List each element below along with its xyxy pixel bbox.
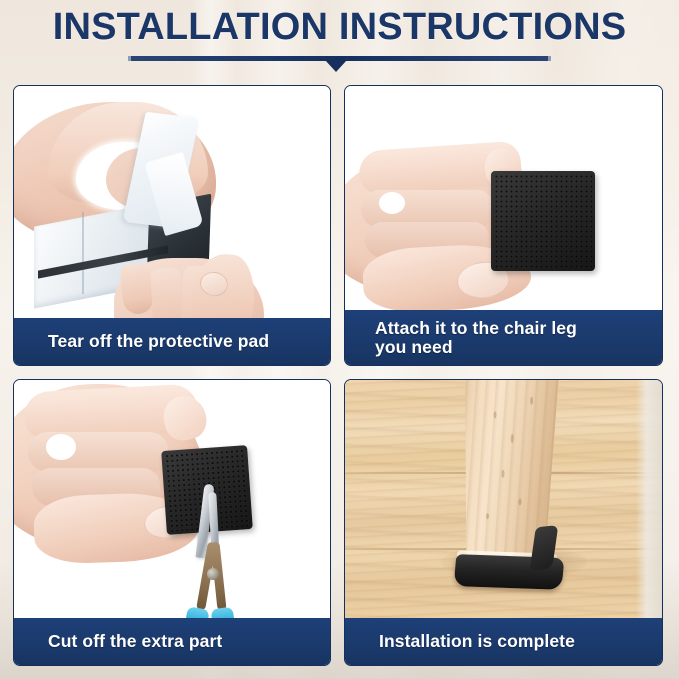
step-caption-2: Attach it to the chair leg you need [345, 310, 662, 365]
finger-gap-shape [379, 192, 405, 214]
step-caption-line: you need [375, 338, 577, 357]
step-caption-1: Tear off the protective pad [14, 318, 330, 365]
step-panel-2: Attach it to the chair leg you need [344, 85, 663, 366]
step-caption-line: Installation is complete [379, 631, 575, 652]
film-crease-shape [82, 212, 84, 294]
finger-gap-shape [46, 434, 76, 460]
step-caption-line: Tear off the protective pad [48, 331, 269, 352]
step-caption-3: Cut off the extra part [14, 618, 330, 665]
furniture-pad-shape [491, 171, 595, 271]
step-caption-line: Cut off the extra part [48, 631, 222, 652]
finger-shape [119, 263, 154, 316]
steps-grid: Tear off the protective pad Attach it to… [13, 85, 663, 666]
step-photo-2 [345, 86, 662, 310]
finger-shape [150, 267, 184, 318]
step-caption-4: Installation is complete [345, 618, 662, 665]
scissors-grip-shape [184, 606, 209, 618]
scissors-pivot-shape [207, 568, 219, 580]
scissors-grip-shape [211, 607, 236, 618]
step-photo-3 [14, 380, 330, 618]
divider-cap-right [548, 56, 551, 61]
background-wall-shape [636, 380, 662, 618]
step-caption-line: Attach it to the chair leg [375, 319, 577, 338]
step-photo-1 [14, 86, 330, 318]
step-panel-4: Installation is complete [344, 379, 663, 666]
step-photo-4 [345, 380, 662, 618]
header: INSTALLATION INSTRUCTIONS [0, 0, 679, 80]
header-divider [0, 56, 679, 78]
down-triangle-icon [325, 60, 347, 72]
step-panel-3: Cut off the extra part [13, 379, 331, 666]
page-title: INSTALLATION INSTRUCTIONS [0, 6, 679, 49]
step-panel-1: Tear off the protective pad [13, 85, 331, 366]
